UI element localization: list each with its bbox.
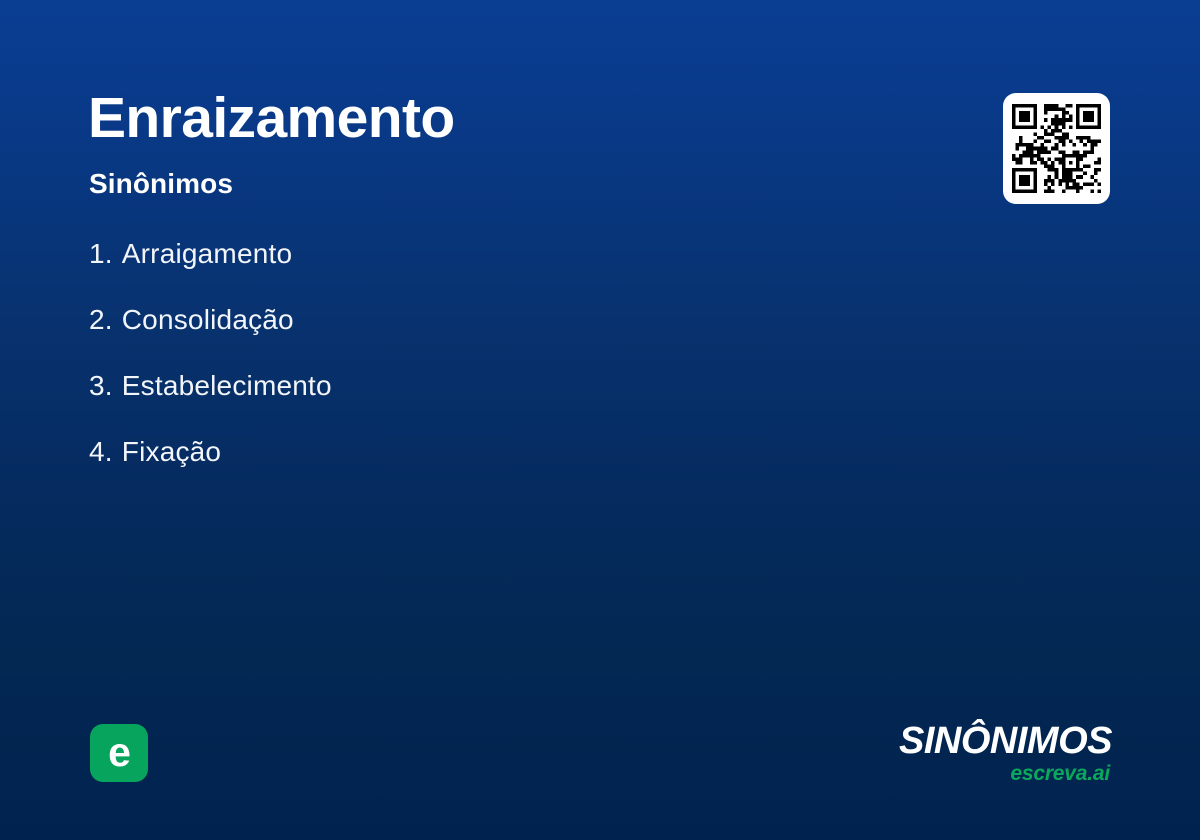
qr-code-card[interactable] [1003, 93, 1110, 204]
escreva-logo-icon[interactable]: e [90, 724, 148, 782]
sinonimos-wordmark[interactable]: SINÔNIMOS escreva.ai [899, 722, 1112, 784]
synonym-card: Enraizamento Sinônimos 1. Arraigamento 2… [0, 0, 1200, 840]
wordmark-primary: SINÔNIMOS [899, 722, 1112, 760]
qr-code-icon [1012, 104, 1101, 193]
list-item: 3. Estabelecimento [89, 370, 849, 436]
list-item-index: 2. [89, 304, 113, 336]
page-subtitle: Sinônimos [89, 167, 233, 201]
list-item-label: Consolidação [122, 304, 294, 336]
synonym-list: 1. Arraigamento 2. Consolidação 3. Estab… [89, 238, 849, 502]
list-item-index: 1. [89, 238, 113, 270]
badge-letter: e [108, 732, 130, 773]
list-item-label: Fixação [122, 436, 221, 468]
wordmark-secondary: escreva.ai [899, 763, 1110, 784]
list-item: 4. Fixação [89, 436, 849, 502]
page-title: Enraizamento [88, 88, 455, 150]
list-item-index: 3. [89, 370, 113, 402]
list-item-index: 4. [89, 436, 113, 468]
list-item: 1. Arraigamento [89, 238, 849, 304]
list-item: 2. Consolidação [89, 304, 849, 370]
list-item-label: Arraigamento [122, 238, 292, 270]
list-item-label: Estabelecimento [122, 370, 332, 402]
